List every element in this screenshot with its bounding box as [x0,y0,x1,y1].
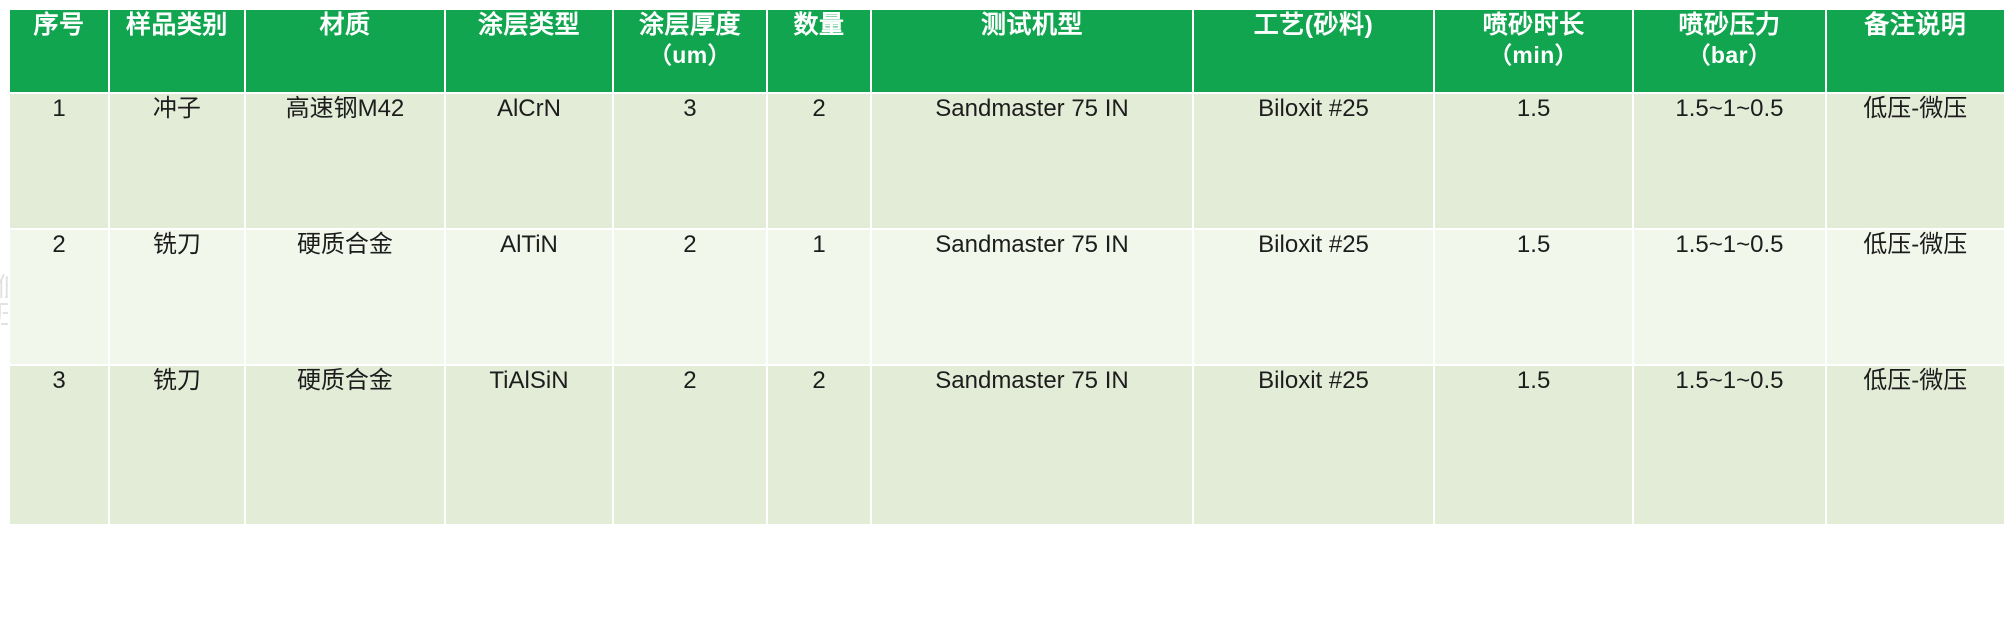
cell-no[interactable]: 3 [10,366,108,524]
cell-coating-type[interactable]: TiAlSiN [446,366,611,524]
cell-sample-type[interactable]: 冲子 [110,94,244,228]
cell-material[interactable]: 硬质合金 [246,366,445,524]
table-row[interactable]: 2 铣刀 硬质合金 AlTiN 2 1 Sandmaster 75 IN Bil… [10,230,2004,364]
column-header-test-machine-label: 测试机型 [981,11,1083,39]
cell-remark[interactable]: 低压-微压 [1827,230,2004,364]
cell-blast-time[interactable]: 1.5 [1435,366,1632,524]
column-header-process-media-label: 工艺(砂料) [1254,11,1374,39]
cell-coating-thickness[interactable]: 2 [614,366,766,524]
table-row[interactable]: 3 铣刀 硬质合金 TiAlSiN 2 2 Sandmaster 75 IN B… [10,366,2004,524]
column-header-blast-pressure-label: 喷砂压力 [1678,11,1780,39]
spreadsheet-canvas: 低 压 序号 样品类别 材质 涂层类型 [0,0,2015,637]
cell-sample-type[interactable]: 铣刀 [110,230,244,364]
column-header-blast-time-label: 喷砂时长 [1483,11,1585,39]
column-header-material-label: 材质 [319,11,370,39]
cell-sample-type[interactable]: 铣刀 [110,366,244,524]
clipped-edge-glyph-bottom: 压 [0,300,8,330]
cell-test-machine[interactable]: Sandmaster 75 IN [872,94,1192,228]
column-header-no-label: 序号 [34,11,85,39]
column-header-remark-label: 备注说明 [1864,11,1966,39]
header-row: 序号 样品类别 材质 涂层类型 涂层厚度 （um） [10,10,2004,92]
cell-process-media[interactable]: Biloxit #25 [1194,94,1433,228]
cell-blast-pressure[interactable]: 1.5~1~0.5 [1634,230,1824,364]
cell-no[interactable]: 1 [10,94,108,228]
cell-blast-pressure[interactable]: 1.5~1~0.5 [1634,94,1824,228]
cell-coating-type[interactable]: AlCrN [446,94,611,228]
column-header-blast-time-unit: （min） [1435,40,1632,70]
cell-test-machine[interactable]: Sandmaster 75 IN [872,230,1192,364]
cell-blast-time[interactable]: 1.5 [1435,230,1632,364]
column-header-blast-time[interactable]: 喷砂时长 （min） [1435,10,1632,92]
column-header-coating-thickness-unit: （um） [614,40,766,70]
column-header-test-machine[interactable]: 测试机型 [872,10,1192,92]
cell-coating-thickness[interactable]: 2 [614,230,766,364]
column-header-coating-thickness-label: 涂层厚度 [639,11,741,39]
sample-test-plan-table: 序号 样品类别 材质 涂层类型 涂层厚度 （um） [8,8,2006,526]
column-header-sample-type-label: 样品类别 [126,11,228,39]
column-header-coating-type-label: 涂层类型 [478,11,580,39]
table-header: 序号 样品类别 材质 涂层类型 涂层厚度 （um） [10,10,2004,92]
column-header-no[interactable]: 序号 [10,10,108,92]
cell-quantity[interactable]: 1 [768,230,870,364]
cell-blast-pressure[interactable]: 1.5~1~0.5 [1634,366,1824,524]
cell-material[interactable]: 硬质合金 [246,230,445,364]
column-header-material[interactable]: 材质 [246,10,445,92]
column-header-quantity-label: 数量 [794,11,845,39]
column-header-quantity[interactable]: 数量 [768,10,870,92]
table-body: 1 冲子 高速钢M42 AlCrN 3 2 Sandmaster 75 IN B… [10,94,2004,524]
cell-process-media[interactable]: Biloxit #25 [1194,366,1433,524]
column-header-sample-type[interactable]: 样品类别 [110,10,244,92]
cell-quantity[interactable]: 2 [768,94,870,228]
column-header-coating-thickness[interactable]: 涂层厚度 （um） [614,10,766,92]
column-header-blast-pressure[interactable]: 喷砂压力 （bar） [1634,10,1824,92]
cell-coating-thickness[interactable]: 3 [614,94,766,228]
cell-blast-time[interactable]: 1.5 [1435,94,1632,228]
cell-remark[interactable]: 低压-微压 [1827,366,2004,524]
column-header-blast-pressure-unit: （bar） [1634,40,1824,70]
cell-material[interactable]: 高速钢M42 [246,94,445,228]
column-header-process-media[interactable]: 工艺(砂料) [1194,10,1433,92]
cell-quantity[interactable]: 2 [768,366,870,524]
cell-no[interactable]: 2 [10,230,108,364]
cell-remark[interactable]: 低压-微压 [1827,94,2004,228]
clipped-edge-glyph-top: 低 [0,272,8,302]
cell-test-machine[interactable]: Sandmaster 75 IN [872,366,1192,524]
cell-coating-type[interactable]: AlTiN [446,230,611,364]
column-header-remark[interactable]: 备注说明 [1827,10,2004,92]
table-row[interactable]: 1 冲子 高速钢M42 AlCrN 3 2 Sandmaster 75 IN B… [10,94,2004,228]
column-header-coating-type[interactable]: 涂层类型 [446,10,611,92]
cell-process-media[interactable]: Biloxit #25 [1194,230,1433,364]
